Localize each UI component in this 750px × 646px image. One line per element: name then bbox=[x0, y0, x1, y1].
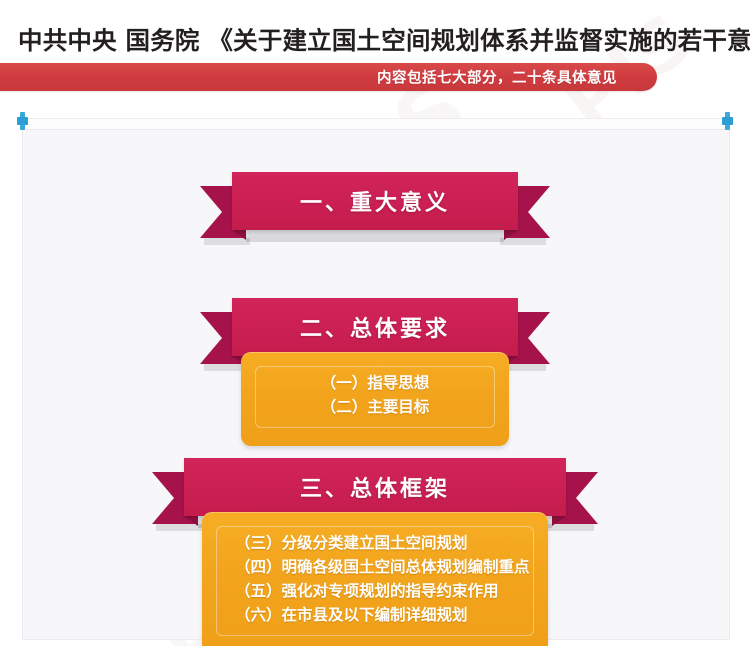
section-2-ribbon-body: 二、总体要求 bbox=[232, 298, 518, 356]
infographic-page: DIS DIS PIS DIS 中共中央 国务院 《关于建立国土空间规划体系并监… bbox=[0, 0, 750, 646]
subtitle-text: 内容包括七大部分，二十条具体意见 bbox=[377, 67, 617, 88]
list-item: （一）指导思想 bbox=[268, 371, 482, 395]
subtitle-banner: 内容包括七大部分，二十条具体意见 bbox=[0, 63, 657, 91]
section-3: 三、总体框架 （三）分级分类建立国土空间规划 （四）明确各级国土空间总体规划编制… bbox=[152, 458, 598, 646]
list-item: （六）在市县及以下编制详细规划 bbox=[235, 603, 521, 627]
list-item: （三）分级分类建立国土空间规划 bbox=[235, 531, 521, 555]
header: 中共中央 国务院 《关于建立国土空间规划体系并监督实施的若干意见》 内容包括七大… bbox=[0, 0, 750, 98]
section-3-ribbon-body: 三、总体框架 bbox=[184, 458, 566, 516]
section-1-ribbon: 一、重大意义 bbox=[200, 172, 550, 230]
ribbon-tail-shadow-left bbox=[204, 238, 250, 245]
section-2: 二、总体要求 （一）指导思想 （二）主要目标 bbox=[200, 298, 550, 446]
ribbon-tail-shadow-left bbox=[156, 524, 202, 531]
list-item: （五）强化对专项规划的指导约束作用 bbox=[235, 579, 521, 603]
section-2-panel-inner: （一）指导思想 （二）主要目标 bbox=[255, 366, 495, 428]
ribbon-tail-shadow-right bbox=[548, 524, 594, 531]
section-3-ribbon: 三、总体框架 bbox=[152, 458, 598, 516]
section-3-panel-inner: （三）分级分类建立国土空间规划 （四）明确各级国土空间总体规划编制重点 （五）强… bbox=[216, 526, 534, 636]
section-1-label: 一、重大意义 bbox=[300, 185, 450, 217]
ribbon-tail-shadow-right bbox=[500, 238, 546, 245]
section-2-label: 二、总体要求 bbox=[300, 311, 450, 343]
section-3-label: 三、总体框架 bbox=[300, 471, 450, 503]
section-2-ribbon: 二、总体要求 bbox=[200, 298, 550, 356]
page-title: 中共中央 国务院 《关于建立国土空间规划体系并监督实施的若干意见》 bbox=[18, 22, 750, 57]
corner-marker-left-icon bbox=[17, 112, 28, 130]
frame-top-strip bbox=[23, 119, 729, 130]
section-1: 一、重大意义 bbox=[200, 172, 550, 230]
ribbon-undershadow bbox=[246, 230, 504, 242]
list-item: （四）明确各级国土空间总体规划编制重点 bbox=[235, 555, 521, 579]
list-item: （二）主要目标 bbox=[268, 395, 482, 419]
section-3-panel: （三）分级分类建立国土空间规划 （四）明确各级国土空间总体规划编制重点 （五）强… bbox=[202, 512, 548, 646]
section-2-panel: （一）指导思想 （二）主要目标 bbox=[241, 352, 509, 446]
corner-marker-right-icon bbox=[722, 112, 733, 130]
section-1-ribbon-body: 一、重大意义 bbox=[232, 172, 518, 230]
